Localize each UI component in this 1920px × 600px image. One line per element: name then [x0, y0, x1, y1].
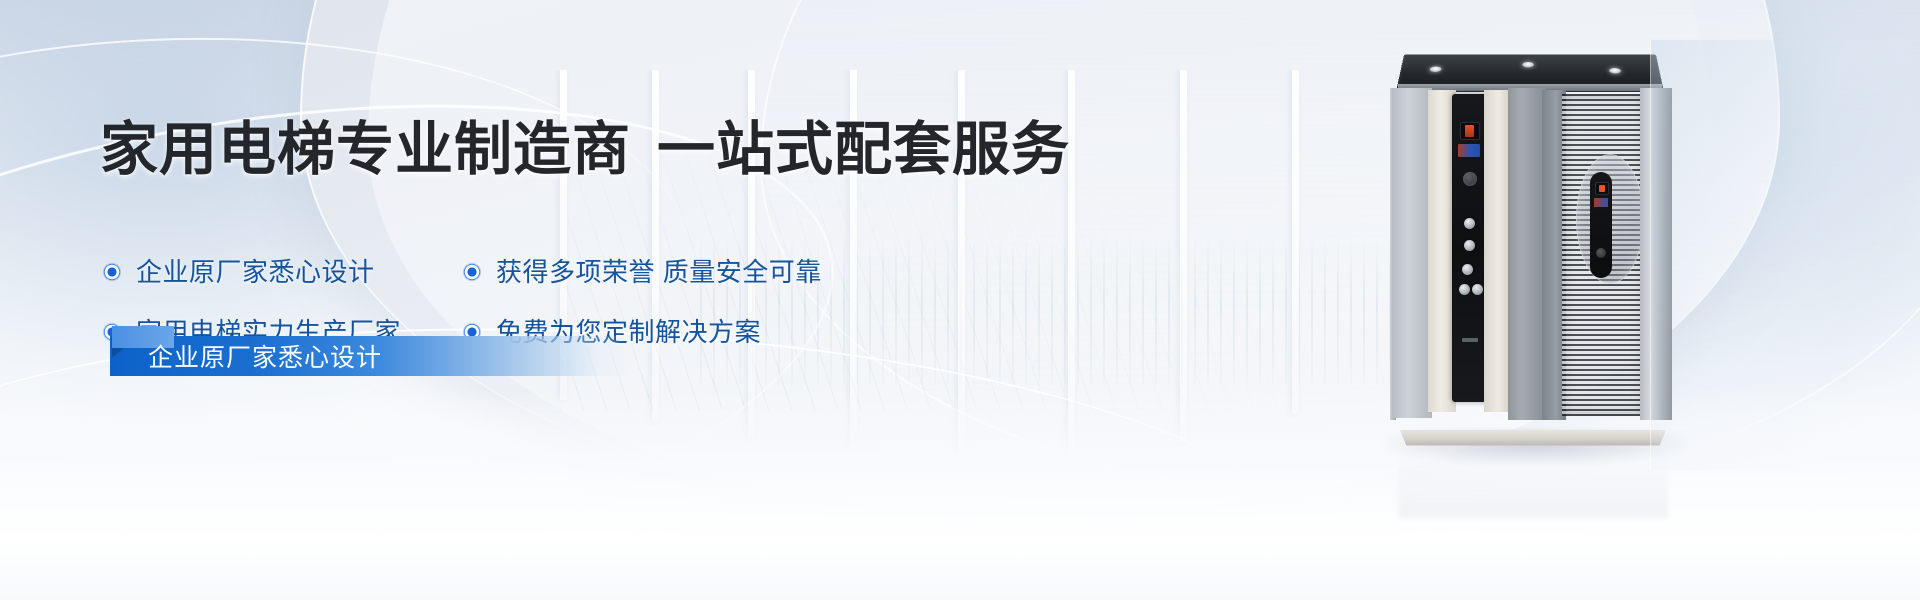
feature-label-2: 获得多项荣誉 质量安全可靠: [496, 255, 822, 289]
page-title: 家用电梯专业制造商一站式配套服务: [100, 117, 1070, 183]
cabin-wall-grey: [1508, 88, 1546, 420]
cabin-button-2: [1464, 240, 1475, 251]
cabin-floor-display: [1460, 122, 1480, 140]
ribbon-label: 企业原厂家悉心设计: [148, 336, 382, 376]
cabin-floor: [1400, 430, 1666, 445]
cabin-button-4: [1459, 284, 1470, 295]
elevator-cabin-image: [1390, 44, 1672, 454]
cabin-panel-speaker: [1463, 172, 1477, 186]
cabin-rear-speaker: [1596, 248, 1606, 258]
feature-label-1: 企业原厂家悉心设计: [136, 255, 375, 289]
headline-part-1: 家用电梯专业制造商: [100, 117, 631, 182]
headline-part-2: 一站式配套服务: [657, 117, 1070, 182]
promo-banner: 家用电梯专业制造商一站式配套服务 企业原厂家悉心设计 获得多项荣誉 质量安全可靠…: [0, 0, 1920, 600]
cabin-rear-brand-badge: [1594, 198, 1608, 207]
feature-item-2: 获得多项荣誉 质量安全可靠: [464, 255, 824, 289]
cabin-wall-left: [1392, 88, 1432, 418]
cabin-rear-floor-display: [1595, 182, 1609, 195]
bullet-dot-icon: [464, 264, 480, 280]
cabin-panel-brand-badge: [1458, 144, 1480, 157]
feature-item-1: 企业原厂家悉心设计: [104, 255, 464, 289]
feature-row-1: 企业原厂家悉心设计 获得多项荣誉 质量安全可靠: [104, 255, 964, 289]
cabin-button-5: [1472, 284, 1483, 295]
cabin-interior: [1390, 88, 1672, 432]
bullet-dot-icon: [104, 264, 120, 280]
cabin-button-1: [1464, 218, 1475, 229]
cabin-control-panel: [1452, 94, 1488, 402]
cabin-floor-reflection: [1398, 448, 1668, 518]
cabin-wall-cream-right: [1484, 90, 1510, 412]
cabin-rear-control-panel: [1590, 172, 1612, 278]
highlight-ribbon: 企业原厂家悉心设计: [110, 336, 630, 376]
cabin-panel-logo: [1462, 338, 1478, 342]
glass-panel-right: [1650, 40, 1911, 470]
cabin-button-3: [1462, 264, 1473, 275]
